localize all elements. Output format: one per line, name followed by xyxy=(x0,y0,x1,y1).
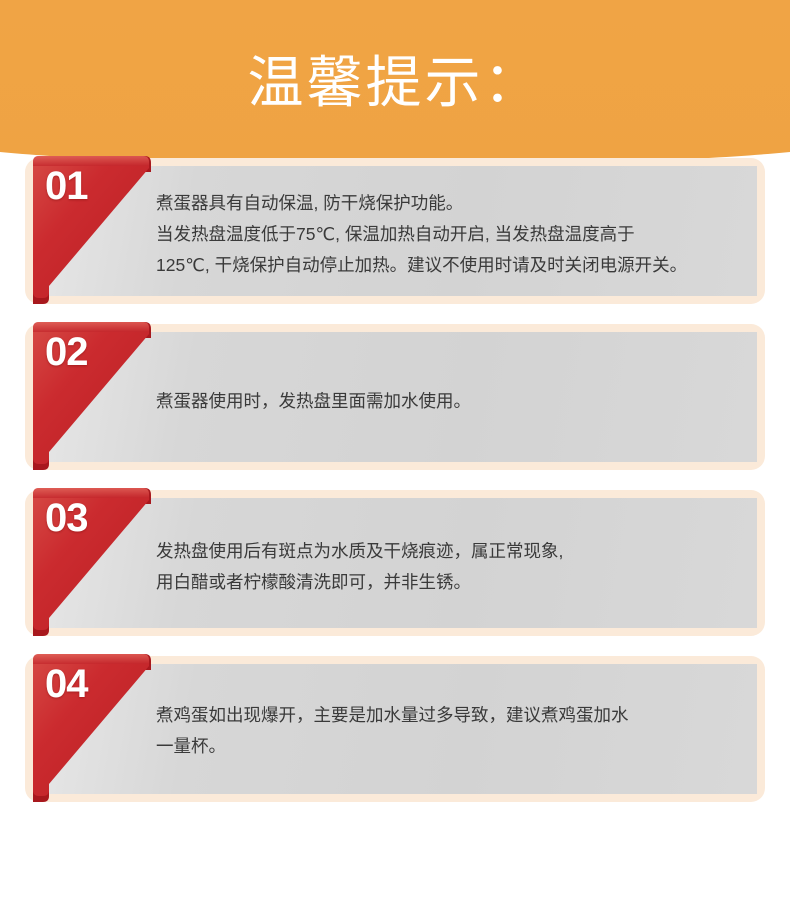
tip-card-body-01: 01 煮蛋器具有自动保温, 防干烧保护功能。 当发热盘温度低于75℃, 保温加热… xyxy=(33,166,757,296)
tip-text-02: 煮蛋器使用时，发热盘里面需加水使用。 xyxy=(33,386,757,417)
page-title: 温馨提示： xyxy=(0,0,790,152)
page-header: 温馨提示： xyxy=(0,0,790,162)
tip-card-03: 03 发热盘使用后有斑点为水质及干烧痕迹，属正常现象, 用白醋或者柠檬酸清洗即可… xyxy=(25,490,765,636)
tip-text-04: 煮鸡蛋如出现爆开，主要是加水量过多导致，建议煮鸡蛋加水 一量杯。 xyxy=(33,700,757,762)
tip-number-04: 04 xyxy=(45,664,88,704)
tip-text-01: 煮蛋器具有自动保温, 防干烧保护功能。 当发热盘温度低于75℃, 保温加热自动开… xyxy=(33,188,757,281)
tip-card-body-04: 04 煮鸡蛋如出现爆开，主要是加水量过多导致，建议煮鸡蛋加水 一量杯。 xyxy=(33,664,757,794)
tip-card-04: 04 煮鸡蛋如出现爆开，主要是加水量过多导致，建议煮鸡蛋加水 一量杯。 xyxy=(25,656,765,802)
tip-number-02: 02 xyxy=(45,332,88,372)
tip-card-body-03: 03 发热盘使用后有斑点为水质及干烧痕迹，属正常现象, 用白醋或者柠檬酸清洗即可… xyxy=(33,498,757,628)
tip-card-02: 02 煮蛋器使用时，发热盘里面需加水使用。 xyxy=(25,324,765,470)
tip-card-body-02: 02 煮蛋器使用时，发热盘里面需加水使用。 xyxy=(33,332,757,462)
tip-number-03: 03 xyxy=(45,498,88,538)
tips-list: 01 煮蛋器具有自动保温, 防干烧保护功能。 当发热盘温度低于75℃, 保温加热… xyxy=(0,162,790,822)
tip-card-01: 01 煮蛋器具有自动保温, 防干烧保护功能。 当发热盘温度低于75℃, 保温加热… xyxy=(25,158,765,304)
tip-text-03: 发热盘使用后有斑点为水质及干烧痕迹，属正常现象, 用白醋或者柠檬酸清洗即可，并非… xyxy=(33,536,757,598)
